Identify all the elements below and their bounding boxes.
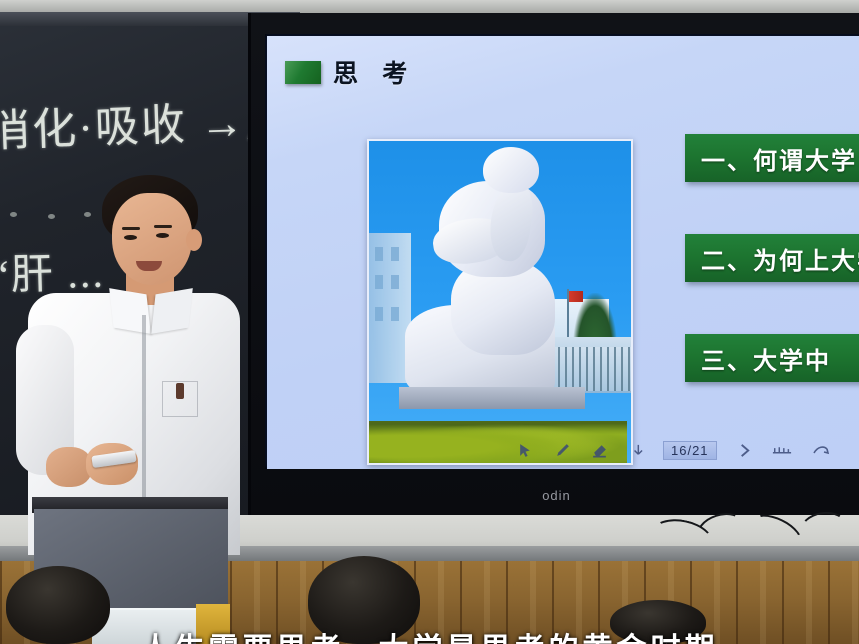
lecturer <box>8 175 238 555</box>
cursor-arrow-icon[interactable] <box>517 442 534 459</box>
slide-menu-bar-3[interactable]: 三、大学中 <box>685 334 859 382</box>
photo-statue <box>399 147 585 423</box>
lecturer-ear <box>186 229 202 251</box>
lecturer-pocket-pen <box>176 383 184 399</box>
lecturer-face <box>112 193 192 285</box>
slide-menu-bar-2-label: 二、为何上大学 <box>701 241 859 276</box>
lecturer-brow-right <box>154 225 172 228</box>
screen-bezel-inner: 思 考 <box>265 34 859 469</box>
slide-title-row: 思 考 <box>285 54 416 90</box>
slide-menu-bar-3-label: 三、大学中 <box>701 341 831 376</box>
exit-show-icon[interactable] <box>812 442 830 458</box>
slide-menu-bars: 一、何谓大学 二、为何上大学 三、大学中 <box>685 134 859 434</box>
slide-navigation-toolbar[interactable]: 16/21 <box>267 435 859 465</box>
display-brand-label: odin <box>251 488 859 503</box>
prev-slide-icon[interactable] <box>628 442 643 459</box>
display-screen[interactable]: 思 考 <box>248 13 859 515</box>
slide-list-icon[interactable] <box>772 443 792 457</box>
next-slide-icon[interactable] <box>737 442 752 459</box>
statue-head <box>483 147 539 193</box>
classroom-scene: 消化·吸收 →用 “肝 ... 思 考 <box>0 0 859 644</box>
page-indicator[interactable]: 16/21 <box>663 441 717 460</box>
slide-title: 思 考 <box>333 54 416 90</box>
lecturer-brow-left <box>122 227 140 230</box>
slide-menu-bar-1[interactable]: 一、何谓大学 <box>685 134 859 182</box>
video-subtitle: 人生需要思考，大学是思考的黄金时期 <box>0 624 859 644</box>
title-marker-icon <box>285 61 321 84</box>
lecturer-collar-right <box>151 288 193 334</box>
presentation-slide[interactable]: 思 考 <box>267 36 859 469</box>
lecturer-eye-left <box>124 235 137 240</box>
slide-image-thinker-statue <box>367 139 633 465</box>
eraser-icon[interactable] <box>591 442 608 459</box>
slide-menu-bar-1-label: 一、何谓大学 <box>701 141 857 176</box>
lecturer-shirt-placket <box>142 315 146 505</box>
statue-base <box>399 387 585 409</box>
slide-menu-bar-2[interactable]: 二、为何上大学 <box>685 234 859 282</box>
pen-icon[interactable] <box>554 442 571 459</box>
lecturer-eye-right <box>156 233 169 238</box>
